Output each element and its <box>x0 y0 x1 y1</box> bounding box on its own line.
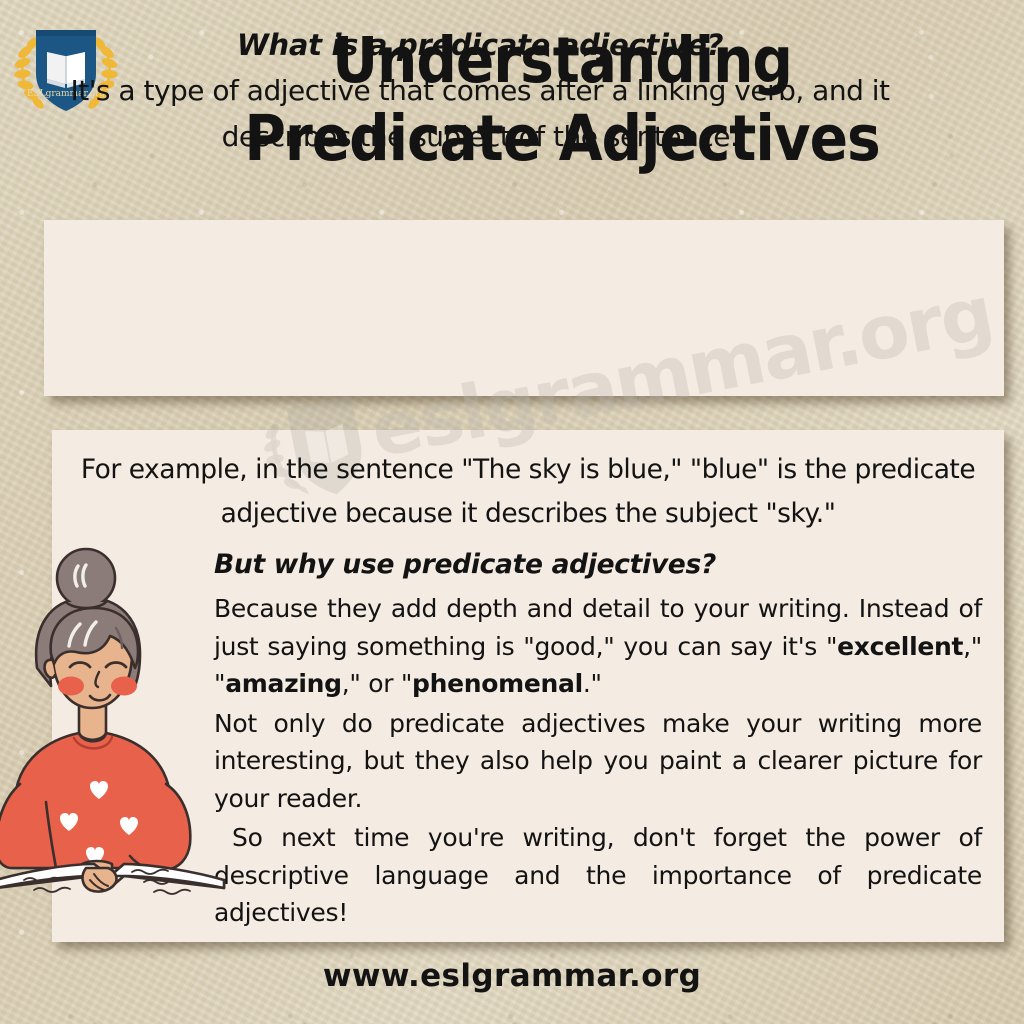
definition-heading: What is a predicate adjective? <box>0 22 960 68</box>
footer-website: www.eslgrammar.org <box>0 958 1024 994</box>
definition-card-content: What is a predicate adjective? It's a ty… <box>0 22 960 160</box>
paragraph-interesting: Not only do predicate adjectives make yo… <box>214 705 982 818</box>
paragraph-depth: Because they add depth and detail to you… <box>214 590 982 703</box>
emphasis-phenomenal: phenomenal <box>412 669 583 698</box>
body-card-content: But why use predicate adjectives? Becaus… <box>214 544 982 934</box>
example-paragraph: For example, in the sentence "The sky is… <box>78 448 978 536</box>
depth-text-middle-2: ," or " <box>342 669 412 698</box>
why-heading: But why use predicate adjectives? <box>214 544 982 586</box>
emphasis-amazing: amazing <box>225 669 342 698</box>
emphasis-excellent: excellent <box>837 632 963 661</box>
infographic-page: ESLgrammar.org Understanding Predicate A… <box>0 0 1024 1024</box>
paragraph-closing: So next time you're writing, don't forge… <box>214 819 982 932</box>
depth-text-after: ." <box>583 669 602 698</box>
woman-reading-book-illustration <box>0 528 226 900</box>
definition-body-text: It's a type of adjective that comes afte… <box>0 68 960 160</box>
definition-card <box>44 220 1004 396</box>
